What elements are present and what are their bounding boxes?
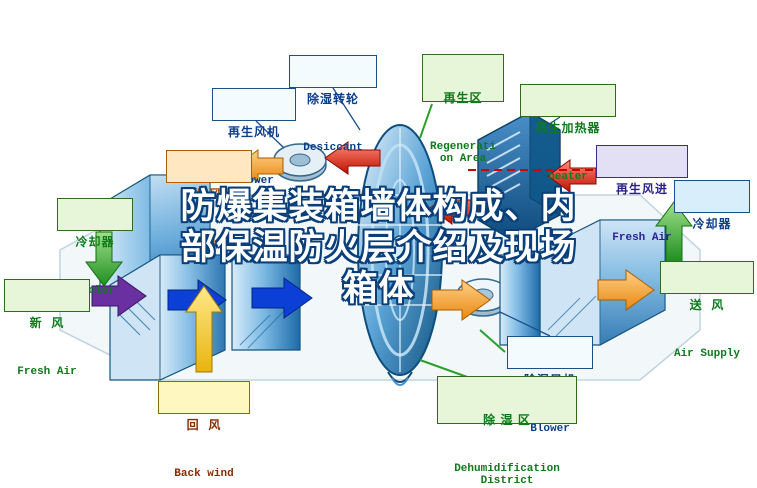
label-cooler-right: 冷却器 Cooler [674, 180, 750, 213]
label-desiccant-wheel-cn: 除湿转轮 [293, 93, 373, 106]
diagram-canvas: 除湿转轮 Desiccant 再生区 Regenerati on Area 再生… [0, 0, 757, 488]
label-regen-blower-cn: 再生风机 [216, 126, 292, 139]
label-dehumid-district-en: Dehumidification District [441, 463, 573, 488]
label-regen-blower: 再生风机 Blower [212, 88, 296, 121]
label-regeneration-area-en: Regenerati on Area [426, 141, 500, 166]
label-dehumid-blower: 除湿风机 Blower [507, 336, 593, 369]
label-regeneration-area-cn: 再生区 [426, 92, 500, 105]
label-cooler-right-cn: 冷却器 [678, 218, 746, 231]
label-dehumid-district: 除 湿 区 Dehumidification District [437, 376, 577, 424]
label-cooler-left: 冷却器 Cooler [57, 198, 133, 231]
label-regen-air-out-cn: 再生风出 [170, 188, 248, 201]
label-regen-air-out-en: Exhaust [170, 237, 248, 249]
label-regen-heater: 再生加热器 heater [520, 84, 616, 117]
label-fresh-air-in: 新 风 Fresh Air [4, 279, 90, 312]
label-fresh-air-in-cn: 新 风 [8, 317, 86, 330]
label-cooler-left-cn: 冷却器 [61, 236, 129, 249]
label-regen-air-in-en: Fresh Air [600, 232, 684, 244]
label-regen-air-in: 再生风进 Fresh Air [596, 145, 688, 178]
label-regen-air-in-cn: 再生风进 [600, 183, 684, 196]
label-air-supply-en: Air Supply [664, 348, 750, 360]
label-back-wind-cn: 回 风 [162, 419, 246, 432]
label-air-supply-cn: 送 风 [664, 299, 750, 312]
label-dehumid-district-cn: 除 湿 区 [441, 414, 573, 427]
label-back-wind-en: Back wind [162, 468, 246, 480]
label-desiccant-wheel-en: Desiccant [293, 142, 373, 154]
label-regeneration-area: 再生区 Regenerati on Area [422, 54, 504, 102]
label-desiccant-wheel: 除湿转轮 Desiccant [289, 55, 377, 88]
label-back-wind: 回 风 Back wind [158, 381, 250, 414]
label-air-supply: 送 风 Air Supply [660, 261, 754, 294]
label-regen-air-out: 再生风出 Exhaust [166, 150, 252, 183]
label-regen-heater-cn: 再生加热器 [524, 122, 612, 135]
label-fresh-air-in-en: Fresh Air [8, 366, 86, 378]
